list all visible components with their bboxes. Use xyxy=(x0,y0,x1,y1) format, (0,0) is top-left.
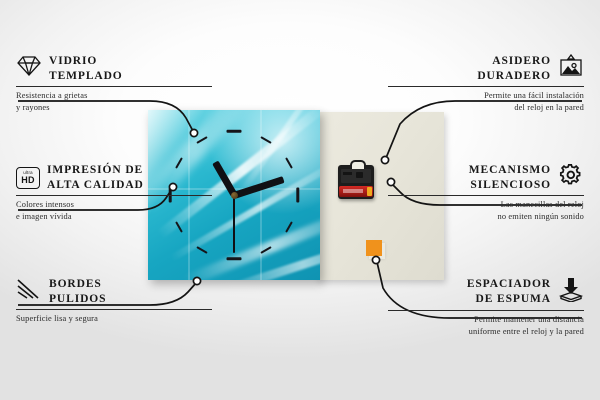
feature-subtitle: Superficie lisa y segura xyxy=(16,313,212,325)
battery-positive-cap xyxy=(367,187,372,196)
clock-tick xyxy=(297,188,300,203)
feature-rule xyxy=(388,310,584,311)
feature-header: MECANISMO SILENCIOSO xyxy=(388,163,584,192)
feature-header: ASIDERO DURADERO xyxy=(388,54,584,83)
diagonal-lines-icon xyxy=(16,278,42,305)
feature-durable-hanger: ASIDERO DURADERO Permite una fácil insta… xyxy=(388,54,584,114)
feature-subtitle: Permite una fácil instalación del reloj … xyxy=(388,90,584,113)
gear-icon xyxy=(558,163,584,192)
feature-hd-print: ultra HD IMPRESIÓN DE ALTA CALIDAD Color… xyxy=(16,163,212,223)
battery-label xyxy=(343,189,363,193)
feature-rule xyxy=(16,309,212,310)
mechanism-face xyxy=(341,169,371,183)
feature-header: VIDRIO TEMPLADO xyxy=(16,54,212,83)
feature-tempered-glass: VIDRIO TEMPLADO Resistencia a grietas y … xyxy=(16,54,212,114)
feature-rule xyxy=(16,86,212,87)
feature-title: MECANISMO SILENCIOSO xyxy=(469,163,551,192)
feature-title: IMPRESIÓN DE ALTA CALIDAD xyxy=(47,163,144,192)
product-infographic: VIDRIO TEMPLADO Resistencia a grietas y … xyxy=(0,0,600,400)
clock-hand-second xyxy=(233,195,235,253)
mechanism-hook-icon xyxy=(350,160,366,169)
feature-subtitle: Las manecillas del reloj no emiten ningú… xyxy=(388,199,584,222)
clock-mechanism xyxy=(338,165,374,199)
foam-spacer-piece xyxy=(366,240,382,256)
feature-foam-spacer: ESPACIADOR DE ESPUMA Permite mantener un… xyxy=(388,276,584,337)
feature-title: VIDRIO TEMPLADO xyxy=(49,54,123,83)
clock-center-hub xyxy=(231,192,238,199)
feature-title: BORDES PULIDOS xyxy=(49,277,106,306)
feature-subtitle: Permite mantener una distancia uniforme … xyxy=(388,314,584,337)
battery xyxy=(339,186,373,197)
ultra-hd-badge-icon: ultra HD xyxy=(16,167,40,189)
feature-subtitle: Resistencia a grietas y rayones xyxy=(16,90,212,113)
feature-header: ESPACIADOR DE ESPUMA xyxy=(388,276,584,307)
feature-title: ASIDERO DURADERO xyxy=(477,54,551,83)
arrow-down-pad-icon xyxy=(558,276,584,307)
feature-header: ultra HD IMPRESIÓN DE ALTA CALIDAD xyxy=(16,163,212,192)
feature-rule xyxy=(388,86,584,87)
feature-header: BORDES PULIDOS xyxy=(16,277,212,306)
hanging-frame-icon xyxy=(558,54,584,83)
feature-rule xyxy=(16,195,212,196)
feature-subtitle: Colores intensos e imagen vívida xyxy=(16,199,212,222)
clock-tick xyxy=(227,258,242,261)
diamond-icon xyxy=(16,55,42,82)
clock-tick xyxy=(227,130,242,133)
feature-silent-mechanism: MECANISMO SILENCIOSO Las manecillas del … xyxy=(388,163,584,223)
feature-title: ESPACIADOR DE ESPUMA xyxy=(467,277,551,306)
feature-rule xyxy=(388,195,584,196)
feature-polished-edges: BORDES PULIDOS Superficie lisa y segura xyxy=(16,277,212,325)
